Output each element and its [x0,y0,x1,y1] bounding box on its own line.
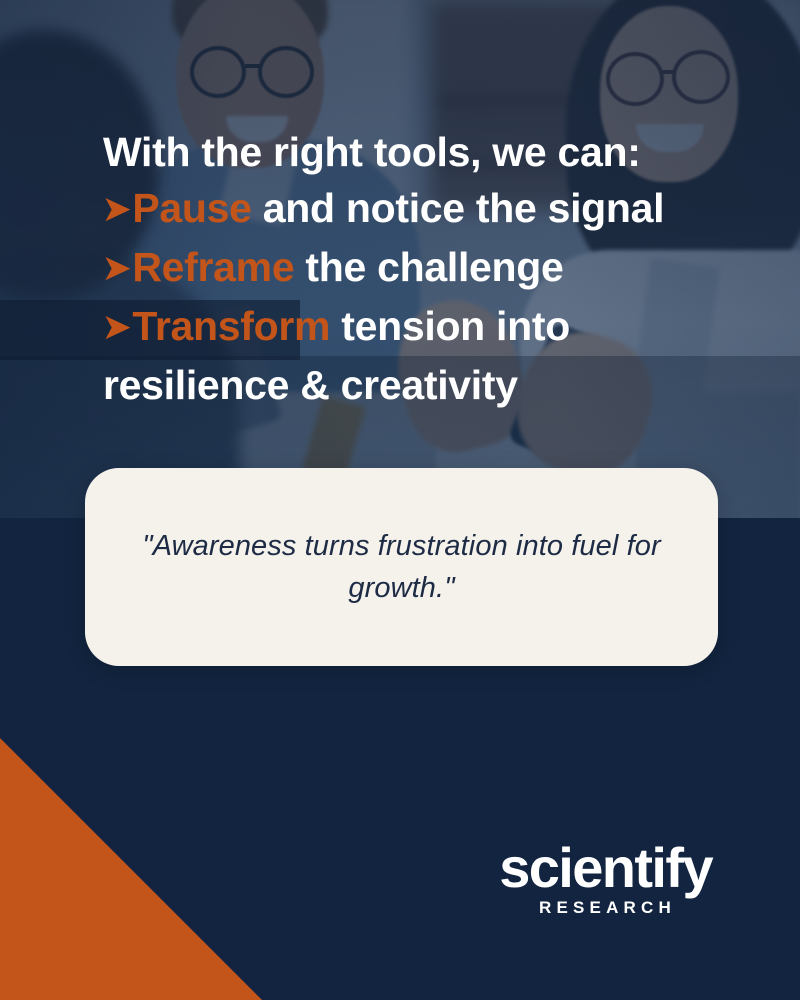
quote-card: "Awareness turns frustration into fuel f… [85,468,718,666]
bullet-rest: the challenge [294,244,563,290]
headline-line-1: With the right tools, we can: [103,124,723,180]
headline-line-5: resilience & creativity [103,357,723,413]
bullet-keyword: Reframe [132,244,294,290]
bullet-rest: and notice the signal [252,185,665,231]
logo-subtitle: RESEARCH [499,898,676,918]
orange-corner-triangle [0,738,262,1000]
headline-bullet-3: ➤Transform tension into [103,298,723,357]
quote-text: "Awareness turns frustration into fuel f… [122,525,682,609]
brand-logo: scientify RESEARCH [499,839,712,918]
arrow-icon: ➤ [103,190,130,227]
bullet-keyword: Transform [132,303,330,349]
arrow-icon: ➤ [103,308,130,345]
headline-block: With the right tools, we can: ➤Pause and… [103,124,723,413]
headline-bullet-2: ➤Reframe the challenge [103,239,723,298]
poster-canvas: With the right tools, we can: ➤Pause and… [0,0,800,1000]
bullet-rest: tension into [330,303,570,349]
bullet-keyword: Pause [132,185,251,231]
headline-bullet-1: ➤Pause and notice the signal [103,180,723,239]
logo-wordmark: scientify [499,839,712,897]
arrow-icon: ➤ [103,249,130,286]
